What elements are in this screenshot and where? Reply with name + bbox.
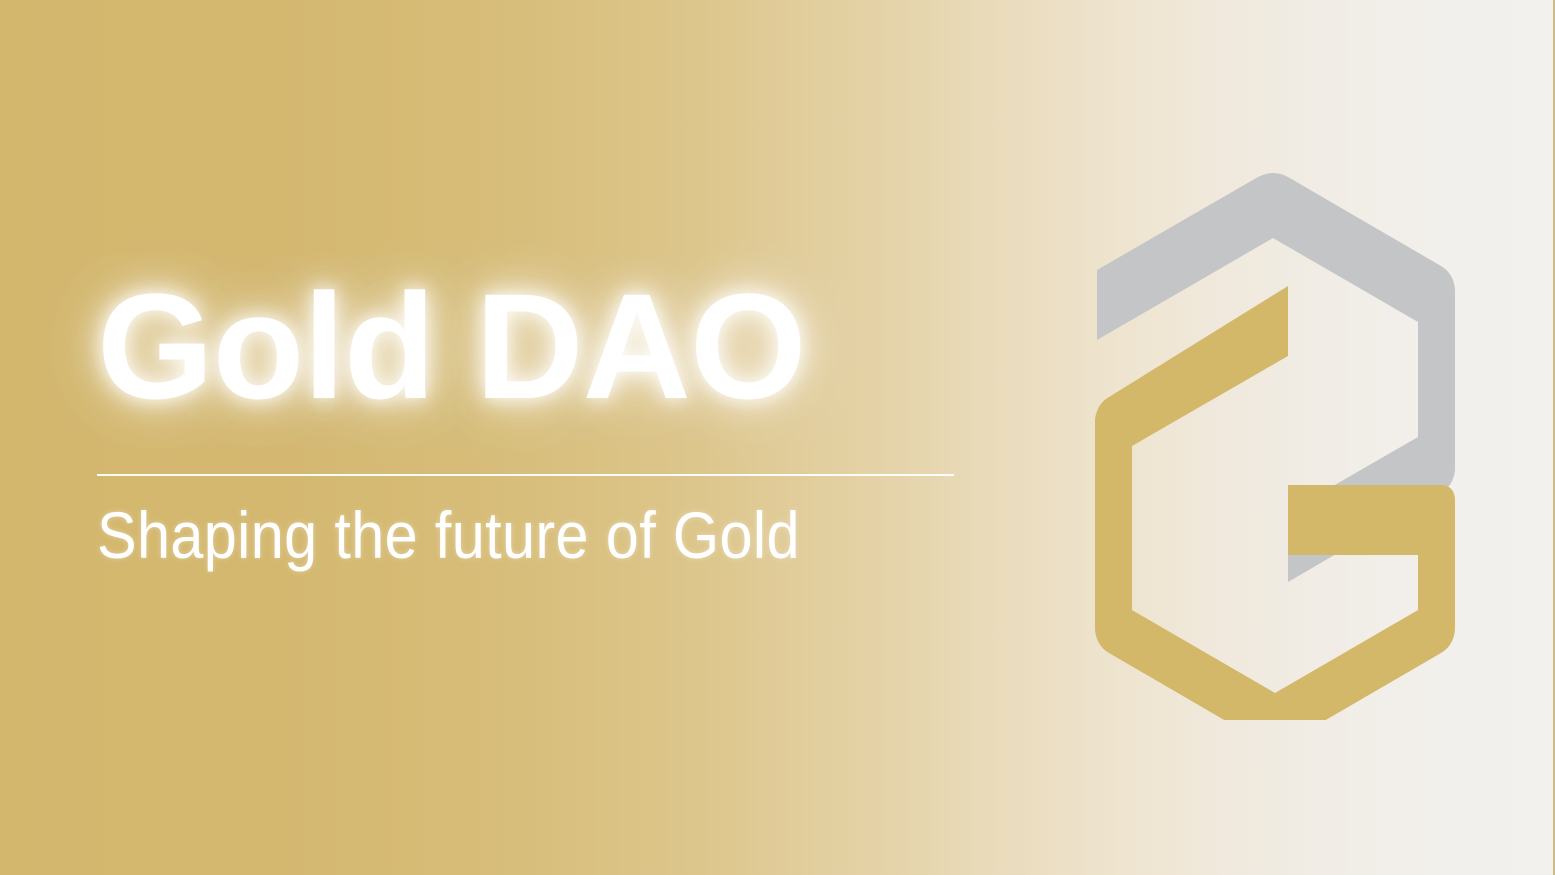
page-title: Gold DAO <box>97 262 977 430</box>
banner-subtitle: Shaping the future of Gold <box>97 496 889 574</box>
banner-text-block: Gold DAO Shaping the future of Gold <box>97 262 977 574</box>
gold-dao-banner: Gold DAO Shaping the future of Gold <box>0 0 1555 875</box>
gold-lower-hexagon-arm-icon <box>1095 286 1455 720</box>
title-divider <box>97 474 954 476</box>
gold-dao-logo-svg <box>1075 150 1475 720</box>
gold-dao-logo <box>1075 150 1475 720</box>
